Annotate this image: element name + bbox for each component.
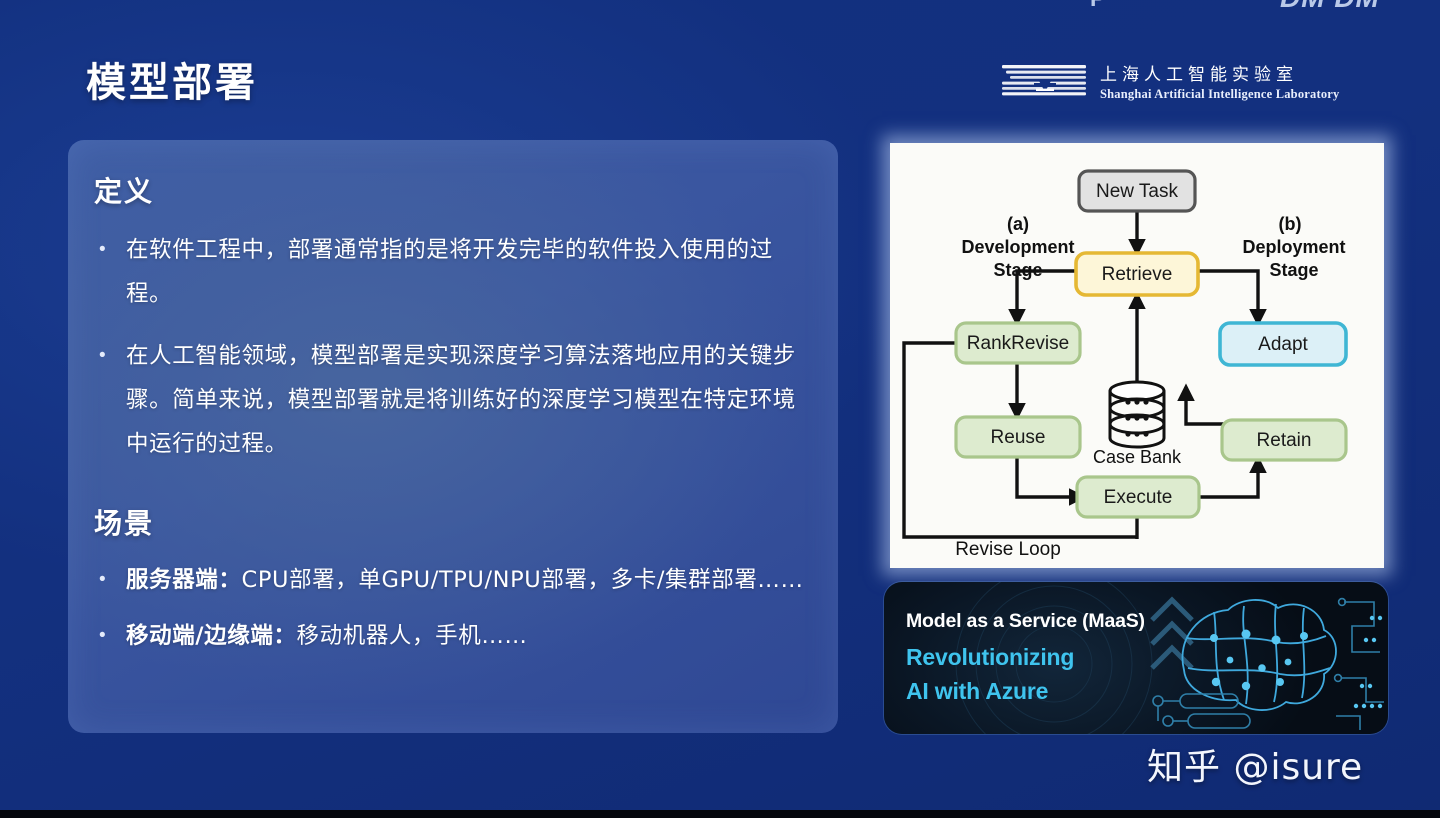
scenario-bullet-list: • 服务器端：CPU部署，单GPU/TPU/NPU部署，多卡/集群部署…… • … bbox=[94, 558, 808, 658]
svg-text:Adapt: Adapt bbox=[1258, 334, 1308, 355]
diagram-node-reuse: Reuse bbox=[956, 417, 1080, 457]
list-item-label: 在人工智能领域，模型部署是实现深度学习算法落地应用的关键步骤。简单来说，模型部署… bbox=[126, 334, 808, 466]
svg-text:Case Bank: Case Bank bbox=[1093, 447, 1182, 467]
maas-title: Model as a Service (MaaS) bbox=[906, 610, 1145, 633]
svg-text:Reuse: Reuse bbox=[991, 427, 1046, 448]
diagram-node-retrieve: Retrieve bbox=[1076, 253, 1198, 295]
page-title: 模型部署 bbox=[86, 50, 258, 108]
svg-text:Execute: Execute bbox=[1104, 487, 1173, 508]
definition-bullet-list: • 在软件工程中，部署通常指的是将开发完毕的软件投入使用的过程。 • 在人工智能… bbox=[94, 228, 808, 466]
watermark: 知乎 @isure bbox=[1147, 738, 1363, 790]
case-bank-database-icon bbox=[1110, 382, 1164, 447]
svg-text:Retain: Retain bbox=[1257, 430, 1312, 451]
diagram-node-adapt: Adapt bbox=[1220, 323, 1346, 365]
logo-text-en: Shanghai Artificial Intelligence Laborat… bbox=[1100, 87, 1340, 102]
list-item-label: 移动端/边缘端：移动机器人，手机…… bbox=[126, 614, 808, 658]
list-item: • 在软件工程中，部署通常指的是将开发完毕的软件投入使用的过程。 bbox=[94, 228, 808, 316]
chevron-up-icon bbox=[1152, 600, 1192, 668]
svg-text:RankRevise: RankRevise bbox=[967, 333, 1069, 354]
circuit-board-icon bbox=[1335, 599, 1384, 730]
content-card: 定义 • 在软件工程中，部署通常指的是将开发完毕的软件投入使用的过程。 • 在人… bbox=[68, 140, 838, 733]
organization-logo: 上海人工智能实验室 Shanghai Artificial Intelligen… bbox=[1000, 60, 1340, 102]
list-item: • 在人工智能领域，模型部署是实现深度学习算法落地应用的关键步骤。简单来说，模型… bbox=[94, 334, 808, 466]
list-item-lead: 移动端/边缘端： bbox=[126, 623, 297, 649]
list-item: • 服务器端：CPU部署，单GPU/TPU/NPU部署，多卡/集群部署…… bbox=[94, 558, 808, 602]
cbr-cycle-diagram: New Task Retrieve RankRevise Reuse Execu… bbox=[890, 143, 1384, 568]
shanghai-ai-lab-mark-icon bbox=[1000, 61, 1088, 101]
svg-text:Revise Loop: Revise Loop bbox=[955, 539, 1061, 560]
list-item-label: 服务器端：CPU部署，单GPU/TPU/NPU部署，多卡/集群部署…… bbox=[126, 558, 808, 602]
svg-text:(a): (a) bbox=[1007, 214, 1029, 234]
maas-subtitle-line2: AI with Azure bbox=[906, 678, 1048, 705]
diagram-node-retain: Retain bbox=[1222, 420, 1346, 460]
maas-subtitle-line1: Revolutionizing bbox=[906, 644, 1074, 671]
diagram-node-new-task: New Task bbox=[1079, 171, 1195, 211]
svg-text:Development: Development bbox=[961, 237, 1074, 257]
list-item-body: CPU部署，单GPU/TPU/NPU部署，多卡/集群部署…… bbox=[242, 567, 804, 593]
slide-canvas: P DM DM 模型部署 bbox=[0, 0, 1440, 818]
bullet-dot-icon: • bbox=[94, 334, 126, 378]
svg-text:(b): (b) bbox=[1279, 214, 1302, 234]
svg-text:New Task: New Task bbox=[1096, 181, 1179, 202]
section-heading-scenario: 场景 bbox=[94, 502, 808, 542]
list-item-label: 在软件工程中，部署通常指的是将开发完毕的软件投入使用的过程。 bbox=[126, 228, 808, 316]
list-item-lead: 服务器端： bbox=[126, 567, 242, 593]
top-remnant-left: P bbox=[1090, 0, 1106, 8]
diagram-node-rankrevise: RankRevise bbox=[956, 323, 1080, 363]
top-remnant-right: DM DM bbox=[1280, 0, 1380, 8]
bullet-dot-icon: • bbox=[94, 558, 126, 602]
svg-text:Stage: Stage bbox=[993, 260, 1042, 280]
bullet-dot-icon: • bbox=[94, 614, 126, 658]
maas-promo-banner: Model as a Service (MaaS) Revolutionizin… bbox=[884, 582, 1388, 734]
section-heading-definition: 定义 bbox=[94, 170, 808, 210]
list-item: • 移动端/边缘端：移动机器人，手机…… bbox=[94, 614, 808, 658]
bullet-dot-icon: • bbox=[94, 228, 126, 272]
list-item-body: 移动机器人，手机…… bbox=[297, 623, 528, 649]
svg-text:Retrieve: Retrieve bbox=[1102, 264, 1173, 285]
diagram-node-execute: Execute bbox=[1077, 477, 1199, 517]
bottom-bar bbox=[0, 810, 1440, 818]
logo-text-cn: 上海人工智能实验室 bbox=[1100, 60, 1340, 85]
svg-text:Stage: Stage bbox=[1269, 260, 1318, 280]
svg-text:Deployment: Deployment bbox=[1242, 237, 1345, 257]
